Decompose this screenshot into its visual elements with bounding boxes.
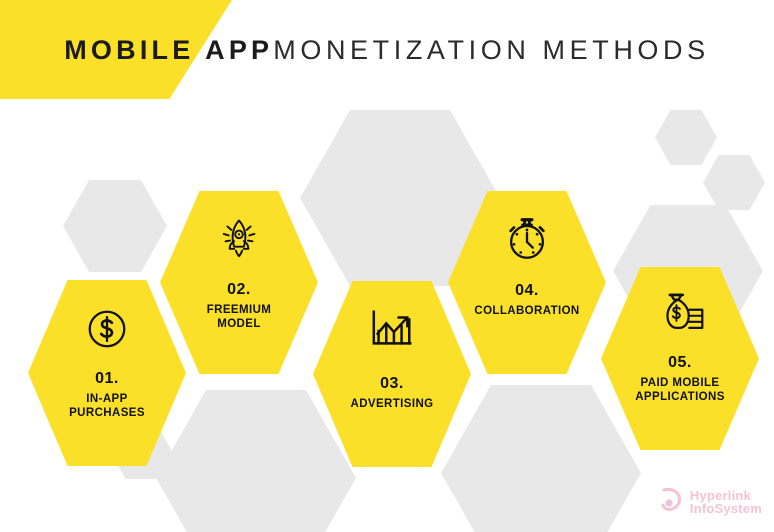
step-label-05: PAID MOBILE APPLICATIONS: [635, 376, 725, 404]
step-number-04: 04.: [515, 283, 539, 299]
decorative-hexagon-bottom-center: [441, 385, 641, 532]
step-label-02: FREEMIUM MODEL: [207, 303, 272, 331]
decorative-hexagon-far-right-small: [703, 155, 765, 210]
step-number-05: 05.: [668, 355, 692, 371]
decorative-hexagon-left-upper: [63, 180, 167, 272]
page-title-light: MONETIZATION METHODS: [273, 35, 710, 65]
decorative-hexagon-top-right-small: [655, 110, 717, 165]
dollar-coin-icon: [84, 306, 130, 357]
step-number-01: 01.: [95, 371, 119, 387]
step-label-01: IN-APP PURCHASES: [69, 392, 145, 420]
step-card-02[interactable]: 02. FREEMIUM MODEL: [160, 191, 318, 374]
bar-chart-growth-icon: [367, 307, 417, 358]
money-bag-icon: [654, 290, 706, 341]
step-label-04: COLLABORATION: [474, 304, 579, 318]
watermark-line-1: Hyperlink: [690, 489, 762, 502]
infographic-canvas: MOBILE APPMONETIZATION METHODS 01. IN-AP…: [0, 0, 774, 532]
step-number-02: 02.: [227, 282, 251, 298]
rocket-icon: [213, 214, 265, 269]
decorative-hexagon-bottom-left: [156, 390, 356, 532]
watermark-text: Hyperlink InfoSystem: [690, 489, 762, 515]
watermark-line-2: InfoSystem: [690, 502, 762, 515]
step-card-03[interactable]: 03. ADVERTISING: [313, 281, 471, 467]
step-number-03: 03.: [380, 376, 404, 392]
stopwatch-icon: [501, 214, 553, 269]
page-title-bold: MOBILE APP: [64, 35, 273, 65]
page-title: MOBILE APPMONETIZATION METHODS: [0, 28, 774, 72]
watermark: Hyperlink InfoSystem: [660, 485, 762, 518]
hyperlink-logo-icon: [660, 485, 686, 518]
step-label-03: ADVERTISING: [351, 397, 434, 411]
